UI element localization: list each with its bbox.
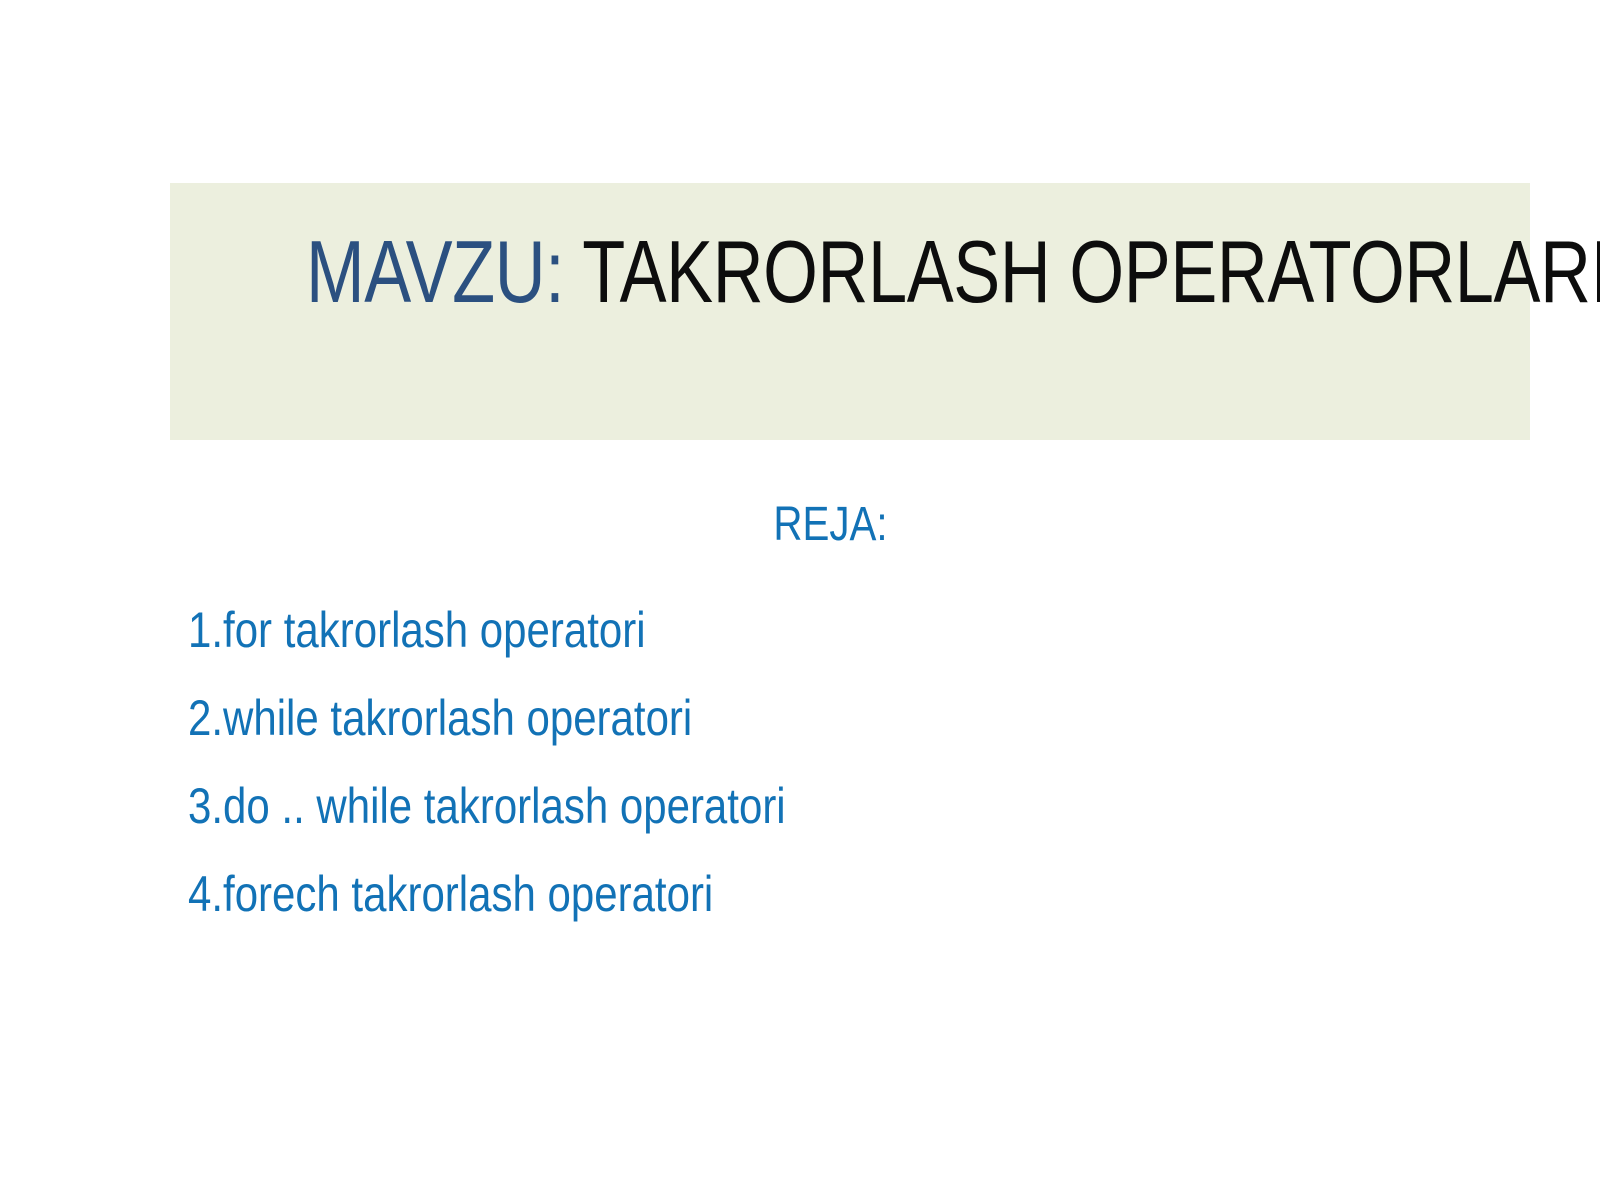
title-keyword: MAVZU: [306, 222, 564, 321]
list-item: 2.while takrorlash operatori [188, 674, 1280, 762]
list-item: 3.do .. while takrorlash operatori [188, 762, 1280, 850]
title-subject: TAKRORLASH OPERATORLARI. [564, 222, 1600, 321]
list-item: 1.for takrorlash operatori [188, 586, 1280, 674]
presentation-slide: MAVZU: TAKRORLASH OPERATORLARI. REJA: 1.… [0, 0, 1600, 1200]
slide-title: MAVZU: TAKRORLASH OPERATORLARI. [306, 183, 1394, 463]
agenda-list: 1.for takrorlash operatori 2.while takro… [188, 586, 1488, 938]
agenda-heading: REJA: [291, 496, 1370, 554]
list-item: 4.forech takrorlash operatori [188, 850, 1280, 938]
